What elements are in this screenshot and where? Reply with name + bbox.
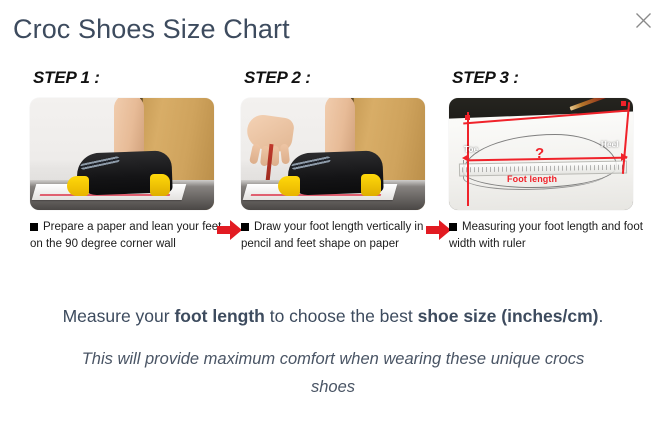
bullet-icon bbox=[241, 223, 249, 231]
diagram-label-heel: Heel bbox=[601, 140, 619, 149]
lead-bold-shoe-size: shoe size (inches/cm) bbox=[418, 306, 599, 326]
step-caption: Draw your foot length vertically in penc… bbox=[241, 219, 437, 253]
step-heading: STEP 2 : bbox=[244, 68, 437, 94]
lead-text: Measure your foot length to choose the b… bbox=[0, 303, 666, 329]
diagram-label-question: ? bbox=[535, 145, 544, 162]
size-chart-modal: Croc Shoes Size Chart STEP 1 : bbox=[0, 0, 666, 432]
step-caption: Prepare a paper and lean your feet on th… bbox=[30, 219, 226, 253]
arrow-right-icon bbox=[217, 220, 243, 240]
steps-strip: STEP 1 : Prepare a paper and lean your f… bbox=[0, 68, 666, 293]
page-title: Croc Shoes Size Chart bbox=[13, 11, 290, 47]
diagram-label-foot-length: Foot length bbox=[507, 174, 557, 184]
lead-part-1: Measure your bbox=[63, 306, 175, 326]
diagram-label-toe: Toe bbox=[464, 145, 478, 154]
close-x-icon bbox=[635, 12, 652, 29]
step-caption: Measuring your foot length and foot widt… bbox=[449, 219, 645, 253]
step-1-photo bbox=[30, 98, 214, 210]
step-2-photo bbox=[241, 98, 425, 210]
lead-part-3: . bbox=[599, 306, 604, 326]
step-caption-text: Measuring your foot length and foot widt… bbox=[449, 221, 643, 250]
step-caption-text: Prepare a paper and lean your feet on th… bbox=[30, 221, 221, 250]
subtext: This will provide maximum comfort when w… bbox=[60, 345, 606, 401]
step-heading: STEP 1 : bbox=[33, 68, 226, 94]
step-heading: STEP 3 : bbox=[452, 68, 645, 94]
close-button[interactable] bbox=[628, 5, 658, 35]
step-3-photo: Toe Heel ? Foot length bbox=[449, 98, 633, 210]
lead-bold-foot-length: foot length bbox=[174, 306, 264, 326]
step-item-3: STEP 3 : Toe Heel ? Foot length bbox=[449, 68, 645, 293]
bullet-icon bbox=[449, 223, 457, 231]
bullet-icon bbox=[30, 223, 38, 231]
lead-part-2: to choose the best bbox=[265, 306, 418, 326]
step-item-2: STEP 2 : Draw your foot len bbox=[241, 68, 437, 293]
step-caption-text: Draw your foot length vertically in penc… bbox=[241, 221, 423, 250]
step-item-1: STEP 1 : Prepare a paper and lean your f… bbox=[30, 68, 226, 293]
